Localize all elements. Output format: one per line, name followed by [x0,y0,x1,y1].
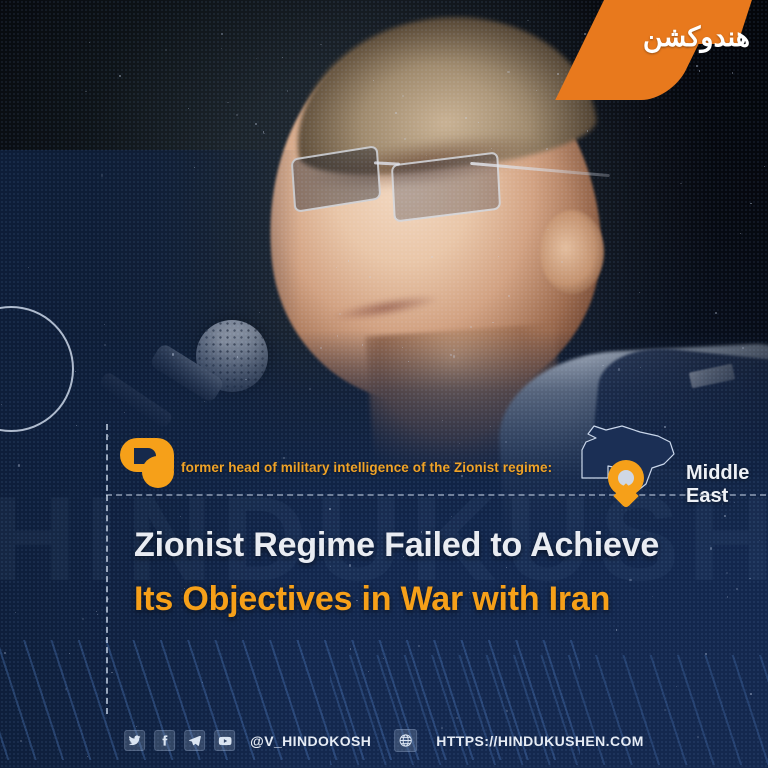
headline: Zionist Regime Failed to Achieve Its Obj… [134,524,734,620]
website-url[interactable]: HTTPS://HINDUKUSHEN.COM [436,733,644,749]
quote-mark-icon [120,438,174,488]
news-graphic-canvas: HINDUKUSH هندوکشن former head of militar… [0,0,768,768]
headline-line-1: Zionist Regime Failed to Achieve [134,524,734,566]
dashed-vertical-rule [106,424,108,714]
location-pin-icon [608,460,644,496]
telegram-icon[interactable] [184,730,205,751]
kicker-text: former head of military intelligence of … [181,460,552,475]
headline-line-2: Its Objectives in War with Iran [134,578,734,620]
region-badge-label: Middle East [686,462,768,508]
globe-icon [394,729,417,752]
twitter-icon[interactable] [124,730,145,751]
logo-wordmark: هندوکشن [574,22,750,53]
facebook-icon[interactable] [154,730,175,751]
region-badge: Middle East [578,420,768,508]
social-handle[interactable]: @V_HINDOKOSH [250,733,371,749]
youtube-icon[interactable] [214,730,235,751]
footer-bar: @V_HINDOKOSH HTTPS://HINDUKUSHEN.COM [0,712,768,768]
site-logo[interactable]: هندوکشن [560,0,760,84]
